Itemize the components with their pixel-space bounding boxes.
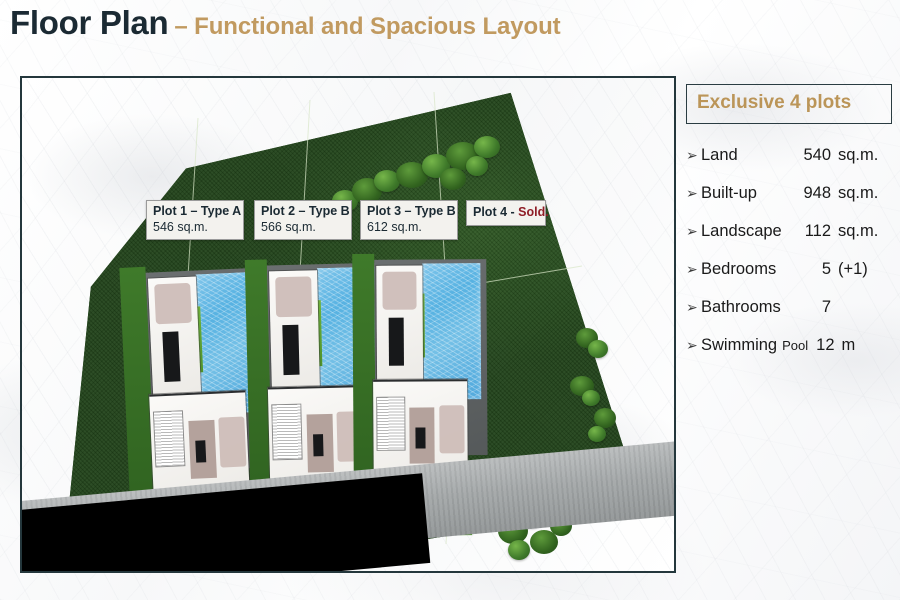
spec-value-built-up: 948	[787, 184, 831, 203]
spec-label-bathrooms: Bathrooms	[701, 298, 781, 317]
plot-label-3-area: 612 sq.m.	[367, 219, 451, 235]
spec-label-built-up: Built-up	[701, 184, 757, 203]
sold-status: Sold.	[518, 205, 549, 219]
spec-row-bathrooms: ➢ Bathrooms 7	[686, 298, 892, 317]
spec-label-pool: Pool	[782, 338, 808, 353]
spec-unit-swimming-pool: m	[842, 336, 856, 355]
arrow-bullet-icon: ➢	[686, 338, 701, 352]
arrow-bullet-icon: ➢	[686, 300, 701, 314]
plot-label-4-title: Plot 4 - Sold.	[473, 205, 539, 220]
specs-panel: Exclusive 4 plots ➢ Land 540 sq.m. ➢ Bui…	[686, 84, 892, 374]
spec-label-land: Land	[701, 146, 738, 165]
plot-label-1-title: Plot 1 – Type A	[153, 204, 237, 219]
spec-value-swimming-pool: 12	[816, 336, 834, 355]
arrow-bullet-icon: ➢	[686, 262, 701, 276]
exclusive-plots-heading: Exclusive 4 plots	[697, 92, 881, 114]
spec-label-swimming: Swimming	[701, 336, 777, 355]
spec-unit-landscape: sq.m.	[838, 222, 892, 241]
plot-label-3-title: Plot 3 – Type B	[367, 204, 451, 219]
plot-label-2[interactable]: Plot 2 – Type B 566 sq.m.	[254, 200, 352, 240]
spec-unit-bedrooms: (+1)	[838, 260, 892, 279]
spec-row-built-up: ➢ Built-up 948 sq.m.	[686, 184, 892, 203]
arrow-bullet-icon: ➢	[686, 148, 701, 162]
spec-unit-built-up: sq.m.	[838, 184, 892, 203]
page-subtitle: – Functional and Spacious Layout	[174, 13, 560, 40]
spec-label-bedrooms: Bedrooms	[701, 260, 776, 279]
specs-list: ➢ Land 540 sq.m. ➢ Built-up 948 sq.m. ➢ …	[686, 146, 892, 355]
spec-value-land: 540	[787, 146, 831, 165]
plot-label-1[interactable]: Plot 1 – Type A 546 sq.m.	[146, 200, 244, 240]
spec-unit-land: sq.m.	[838, 146, 892, 165]
page-title: Floor Plan	[10, 4, 168, 41]
plot-label-1-area: 546 sq.m.	[153, 219, 237, 235]
spec-label-landscape: Landscape	[701, 222, 782, 241]
arrow-bullet-icon: ➢	[686, 186, 701, 200]
exclusive-plots-box: Exclusive 4 plots	[686, 84, 892, 124]
plot-label-2-title: Plot 2 – Type B	[261, 204, 345, 219]
plot-label-2-area: 566 sq.m.	[261, 219, 345, 235]
floor-plan-image: Plot 1 – Type A 546 sq.m. Plot 2 – Type …	[20, 76, 676, 573]
plot-label-4-prefix: Plot 4 -	[473, 205, 518, 219]
slide-header: Floor Plan– Functional and Spacious Layo…	[10, 4, 561, 42]
plot-label-4-sold[interactable]: Plot 4 - Sold.	[466, 200, 546, 226]
spec-row-landscape: ➢ Landscape 112 sq.m.	[686, 222, 892, 241]
spec-value-landscape: 112	[787, 222, 831, 241]
spec-row-swimming-pool: ➢ Swimming Pool 12 m	[686, 336, 892, 355]
spec-value-bathrooms: 7	[787, 298, 831, 317]
spec-value-bedrooms: 5	[787, 260, 831, 279]
spec-row-bedrooms: ➢ Bedrooms 5 (+1)	[686, 260, 892, 279]
arrow-bullet-icon: ➢	[686, 224, 701, 238]
spec-row-land: ➢ Land 540 sq.m.	[686, 146, 892, 165]
plot-label-3[interactable]: Plot 3 – Type B 612 sq.m.	[360, 200, 458, 240]
